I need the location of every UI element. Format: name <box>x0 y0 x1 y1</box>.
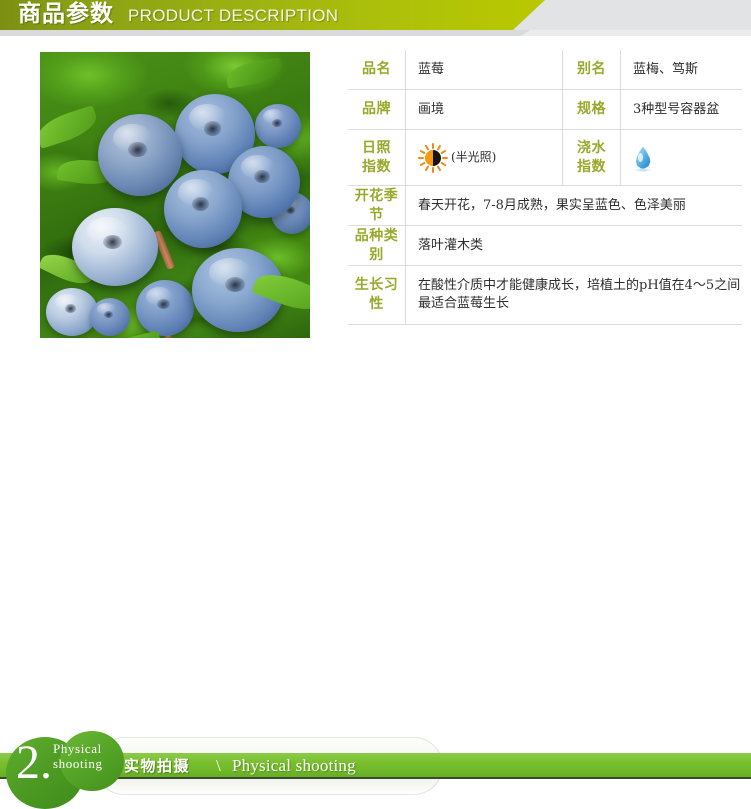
spec-label-watering-line1: 浇水 <box>577 139 606 158</box>
table-row: 开花季节 春天开花，7-8月成熟，果实呈蓝色、色泽美丽 <box>348 186 742 226</box>
spec-value-sunlight-text: (半光照) <box>451 148 496 167</box>
blueberry <box>98 114 182 196</box>
step-badge-label: Physical shooting <box>53 741 103 771</box>
spec-label-product-name: 品名 <box>348 50 406 89</box>
spec-label-brand: 品牌 <box>348 90 406 129</box>
spec-label-growth-habit: 生长习性 <box>348 266 406 324</box>
banner-separator: \ <box>216 753 221 778</box>
blueberry <box>90 298 130 336</box>
page-title-cn: 商品参数 <box>18 0 114 30</box>
half-sun-icon <box>418 143 448 173</box>
banner-title-en: Physical shooting <box>232 753 356 778</box>
step-badge-label-line1: Physical <box>53 741 103 756</box>
spec-label-variety-type: 品种类别 <box>348 226 406 265</box>
spec-value-brand: 画境 <box>406 90 562 129</box>
spec-value-variety-type: 落叶灌木类 <box>406 226 742 265</box>
specification-table: 品名 蓝莓 别名 蓝梅、笃斯 品牌 画境 规格 3种型号容器盆 日照 指数 <box>348 50 742 325</box>
spec-value-specification: 3种型号容器盆 <box>621 90 742 129</box>
product-description-page: 商品参数 PRODUCT DESCRIPTION 品名 蓝莓 <box>0 0 751 444</box>
spec-value-sunlight-index: (半光照) <box>406 130 562 185</box>
spec-label-watering-index: 浇水 指数 <box>563 130 621 185</box>
spec-value-flowering-season: 春天开花，7-8月成熟，果实呈蓝色、色泽美丽 <box>406 186 742 225</box>
page-title-en: PRODUCT DESCRIPTION <box>128 2 338 30</box>
water-drop-icon <box>633 144 653 172</box>
spec-label-watering-line2: 指数 <box>577 158 606 177</box>
spec-label-flowering-season: 开花季节 <box>348 186 406 225</box>
spec-value-growth-habit: 在酸性介质中才能健康成长，培植土的pH值在4～5之间最适合蓝莓生长 <box>406 266 742 324</box>
spec-value-watering-index <box>621 130 742 185</box>
blueberry <box>72 208 158 286</box>
section-physical-shooting: 实物拍摄 \ Physical shooting 2. Physical sho… <box>0 365 751 444</box>
section-header: 商品参数 PRODUCT DESCRIPTION <box>0 0 751 40</box>
spec-label-sunlight-line2: 指数 <box>362 158 391 177</box>
table-row: 日照 指数 <box>348 130 742 186</box>
water-drop-highlight <box>638 153 643 162</box>
step-badge-label-line2: shooting <box>53 756 103 771</box>
step-number: 2. <box>16 739 52 787</box>
table-row: 生长习性 在酸性介质中才能健康成长，培植土的pH值在4～5之间最适合蓝莓生长 <box>348 266 742 325</box>
spec-label-alias: 别名 <box>563 50 621 89</box>
spec-label-sunlight-line1: 日照 <box>362 139 391 158</box>
spec-label-specification: 规格 <box>563 90 621 129</box>
blueberry <box>136 280 194 336</box>
spec-value-alias: 蓝梅、笃斯 <box>621 50 742 89</box>
blueberry <box>255 104 301 148</box>
water-drop-shadow <box>634 168 652 172</box>
header-green-bar-shadow <box>0 30 530 36</box>
blueberry <box>164 170 242 248</box>
banner-title-cn: 实物拍摄 <box>124 754 190 778</box>
spec-label-sunlight-index: 日照 指数 <box>348 130 406 185</box>
table-row: 品种类别 落叶灌木类 <box>348 226 742 266</box>
table-row: 品名 蓝莓 别名 蓝梅、笃斯 <box>348 50 742 90</box>
sun-core <box>425 150 441 166</box>
product-photo <box>40 52 310 338</box>
spec-value-product-name: 蓝莓 <box>406 50 562 89</box>
table-row: 品牌 画境 规格 3种型号容器盆 <box>348 90 742 130</box>
